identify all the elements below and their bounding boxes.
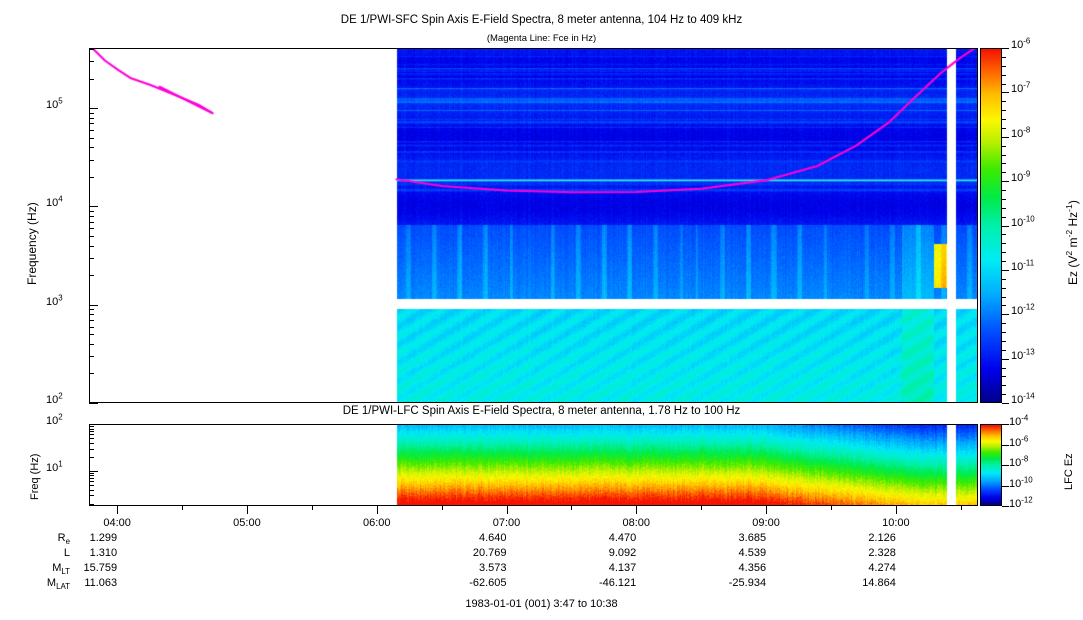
axis-tick [89,485,94,486]
axis-tick [1002,486,1009,487]
axis-tick [89,61,94,62]
axis-tick [1002,350,1006,351]
ephemeris-value: 4.356 [718,562,766,574]
axis-tick [312,506,313,510]
axis-tick [1002,101,1006,102]
cb-label-mid: m [1066,238,1080,251]
axis-tick [89,457,94,458]
lfc-colorbar-tick-label: 10-10 [1009,478,1033,490]
sfc-colorbar-gradient [981,49,1001,402]
axis-tick [89,305,98,306]
axis-tick [1002,288,1006,289]
axis-tick [1002,190,1006,191]
lfc-spectrogram[interactable] [90,425,977,505]
axis-tick [89,113,94,114]
ephemeris-value: 2.126 [848,532,896,544]
axis-tick [1002,217,1006,218]
cb-label-end: ) [1066,200,1080,204]
axis-tick [1002,376,1006,377]
sfc-colorbar [980,48,1002,403]
axis-tick [1002,163,1006,164]
axis-tick [636,506,637,514]
sfc-spectrogram[interactable] [90,49,977,402]
axis-tick [89,334,94,335]
axis-tick [1002,385,1006,386]
axis-tick [1002,359,1009,360]
sfc-colorbar-tick-label: 10-13 [1011,350,1035,362]
axis-tick [766,506,767,514]
ephemeris-value: -46.121 [588,577,636,589]
ephemeris-value: 3.685 [718,532,766,544]
lfc-colorbar-label: LFC Ez [1063,453,1075,490]
axis-tick [89,320,94,321]
axis-tick [89,211,94,212]
sfc-y-axis-label: Frequency (Hz) [25,202,39,285]
x-tick-label-0: 04:00 [93,517,141,529]
axis-tick [1002,314,1009,315]
ephemeris-value: 2.328 [848,547,896,559]
axis-tick [89,438,94,439]
axis-tick [89,478,94,479]
lfc-colorbar [980,424,1002,506]
ephemeris-value: -62.605 [459,577,507,589]
axis-tick [89,471,98,472]
axis-tick [89,443,94,444]
sfc-colorbar-tick-label: 10-10 [1011,217,1035,229]
axis-tick [442,506,443,510]
sfc-colorbar-label: Ez (V2 m-2 Hz-1) [1066,200,1080,285]
axis-tick [89,246,94,247]
axis-tick [1002,48,1009,49]
axis-tick [1002,323,1006,324]
lfc-colorbar-tick-label: 10-12 [1009,498,1033,510]
ephemeris-value: 9.092 [588,547,636,559]
axis-tick [89,147,94,148]
axis-tick [1002,119,1006,120]
axis-tick [89,222,94,223]
axis-tick [89,49,94,50]
sfc-panel-title: DE 1/PWI-SFC Spin Axis E-Field Spectra, … [0,14,1083,26]
axis-tick [89,475,94,476]
sfc-colorbar-tick-label: 10-6 [1011,39,1030,51]
ephemeris-value: 4.137 [588,562,636,574]
ephemeris-value: 1.299 [69,532,117,544]
ephemeris-value: 4.539 [718,547,766,559]
lfc-colorbar-tick-label: 10-6 [1009,437,1028,449]
ephemeris-value: 15.759 [69,562,117,574]
ephemeris-value: 4.640 [459,532,507,544]
axis-tick [701,506,702,510]
ephemeris-row-label-M_LT: MLT [30,562,70,574]
axis-tick [89,426,94,427]
lfc-y-axis-label: Freq (Hz) [29,454,41,500]
axis-tick [89,138,94,139]
axis-tick [1002,181,1009,182]
ephemeris-value: 4.274 [848,562,896,574]
axis-tick [89,344,94,345]
axis-tick [89,130,94,131]
ephemeris-value: -25.934 [718,577,766,589]
ephemeris-value: 20.769 [459,547,507,559]
axis-tick [89,429,94,430]
axis-tick [1002,465,1009,466]
axis-tick [89,403,98,404]
axis-tick [89,434,94,435]
sfc-colorbar-tick-label: 10-12 [1011,305,1035,317]
axis-tick [182,506,183,510]
ephemeris-value: 11.063 [69,577,117,589]
axis-tick [1002,66,1006,67]
lfc-plot-frame [89,424,978,506]
date-range-line: 1983-01-01 (001) 3:47 to 10:38 [0,598,1083,610]
sfc-y-tick-label: 105 [46,99,63,111]
axis-tick [1002,305,1006,306]
axis-tick [247,506,248,514]
sfc-plot-frame [89,48,978,403]
axis-tick [89,431,94,432]
ephemeris-value: 14.864 [848,577,896,589]
axis-tick [89,314,94,315]
lfc-colorbar-tick-label: 10-4 [1009,416,1028,428]
sfc-colorbar-tick-label: 10-7 [1011,83,1030,95]
axis-tick [89,206,98,207]
axis-tick [89,309,94,310]
axis-tick [89,123,94,124]
axis-tick [1002,199,1006,200]
axis-tick [1002,506,1009,507]
axis-tick [961,506,962,510]
cb-label-sup2: -2 [1064,230,1074,238]
x-tick-label-6: 10:00 [872,517,920,529]
lfc-y-tick-label: 102 [46,415,63,427]
axis-tick [89,356,94,357]
axis-tick [89,118,94,119]
axis-tick [1002,226,1009,227]
axis-tick [89,490,94,491]
sfc-y-tick-label: 103 [46,296,63,308]
x-tick-label-3: 07:00 [483,517,531,529]
sfc-y-tick-label: 104 [46,197,63,209]
axis-tick [89,449,94,450]
axis-tick [1002,270,1009,271]
axis-tick [1002,243,1006,244]
sfc-colorbar-tick-label: 10-9 [1011,172,1030,184]
axis-tick [1002,208,1006,209]
axis-tick [89,481,94,482]
cb-label-main: Ez (V [1066,256,1080,285]
axis-tick [1002,234,1006,235]
ephemeris-row-label-R_e: Re [30,532,70,544]
axis-tick [89,327,94,328]
ephemeris-value: 1.310 [69,547,117,559]
axis-tick [571,506,572,510]
axis-tick [1002,297,1006,298]
axis-tick [89,236,94,237]
axis-tick [89,373,94,374]
axis-tick [89,424,98,425]
sfc-panel-subtitle: (Magenta Line: Fce in Hz) [0,33,1083,44]
axis-tick [1002,279,1006,280]
cb-label-mid2: Hz [1066,212,1080,230]
axis-tick [1002,172,1006,173]
axis-tick [89,160,94,161]
axis-tick [1002,252,1006,253]
axis-tick [89,275,94,276]
axis-tick [89,108,98,109]
axis-tick [1002,368,1006,369]
axis-tick [1002,332,1006,333]
sfc-colorbar-tick-label: 10-8 [1011,128,1030,140]
x-tick-label-4: 08:00 [612,517,660,529]
axis-tick [1002,155,1006,156]
lfc-colorbar-tick-label: 10-8 [1009,457,1028,469]
axis-tick [1002,424,1009,425]
x-tick-label-1: 05:00 [223,517,271,529]
axis-tick [1002,75,1006,76]
axis-tick [1002,57,1006,58]
ephemeris-row-label-M_LAT: MLAT [30,577,70,589]
x-tick-label-5: 09:00 [742,517,790,529]
axis-tick [1002,84,1006,85]
cb-label-sup1: 2 [1064,251,1074,256]
axis-tick [89,495,94,496]
axis-tick [896,506,897,514]
axis-tick [117,506,118,514]
axis-tick [1002,146,1006,147]
axis-tick [1002,445,1009,446]
lfc-y-tick-label: 101 [46,462,63,474]
sfc-colorbar-tick-label: 10-11 [1011,261,1034,273]
axis-tick [507,506,508,514]
axis-tick [89,79,94,80]
axis-tick [89,228,94,229]
axis-tick [1002,394,1006,395]
axis-tick [377,506,378,514]
axis-tick [89,504,94,505]
lfc-panel-title: DE 1/PWI-LFC Spin Axis E-Field Spectra, … [0,405,1083,417]
ephemeris-row-label-L: L [30,547,70,559]
axis-tick [1002,110,1006,111]
axis-tick [1002,261,1006,262]
axis-tick [89,177,94,178]
axis-tick [1002,403,1009,404]
axis-tick [1002,128,1006,129]
lfc-colorbar-gradient [981,425,1001,505]
ephemeris-value: 4.470 [588,532,636,544]
axis-tick [1002,341,1006,342]
axis-tick [831,506,832,510]
axis-tick [1002,92,1009,93]
axis-tick [89,473,94,474]
x-tick-label-2: 06:00 [353,517,401,529]
axis-tick [89,258,94,259]
ephemeris-value: 3.573 [459,562,507,574]
axis-tick [1002,137,1009,138]
cb-label-sup3: -1 [1064,204,1074,212]
axis-tick [89,216,94,217]
